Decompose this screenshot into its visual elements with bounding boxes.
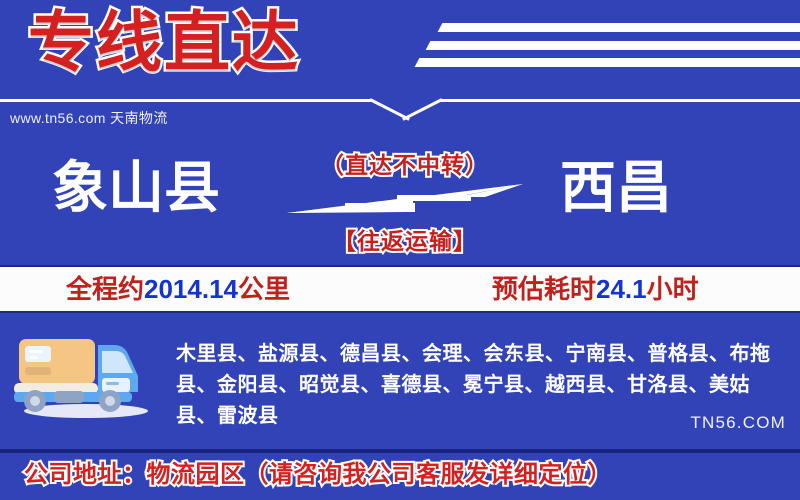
chevron-down-icon [368, 96, 444, 122]
distance-stat: 全程约2014.14公里 [66, 272, 290, 306]
website-label: www.tn56.com 天南物流 [10, 108, 168, 128]
headline-title: 专线直达 [28, 4, 300, 80]
stats-band: 全程约2014.14公里 预估耗时24.1小时 [0, 265, 800, 313]
distance-value: 2014.14 [144, 274, 238, 304]
coverage-section: 木里县、盐源县、德昌县、会理、会东县、宁南县、普格县、布拖县、金阳县、昭觉县、喜… [0, 313, 800, 448]
decorative-stripe-3 [415, 58, 800, 67]
origin-city: 象山县 [52, 156, 220, 220]
badge-roundtrip: 【往返运输】 [280, 222, 530, 256]
double-headed-arrow-icon [285, 182, 525, 220]
watermark-label: TN56.COM [690, 413, 786, 433]
logistics-route-poster: 专线直达 www.tn56.com 天南物流 象山县 西昌 （直达不中转） [0, 0, 800, 500]
poster-header: 专线直达 www.tn56.com 天南物流 [0, 0, 800, 140]
distance-unit: 公里 [238, 274, 290, 304]
delivery-truck-icon [10, 331, 160, 419]
poster-footer: 公司地址：物流园区（请咨询我公司客服发详细定位） [0, 453, 800, 500]
route-section: 象山县 西昌 （直达不中转） 【往返运输】 [0, 140, 800, 265]
company-address-text: 公司地址：物流园区（请咨询我公司客服发详细定位） [24, 458, 612, 492]
route-middle: （直达不中转） 【往返运输】 [280, 140, 530, 265]
duration-unit: 小时 [647, 274, 699, 304]
duration-stat: 预估耗时24.1小时 [492, 272, 699, 306]
duration-value: 24.1 [596, 274, 647, 304]
header-divider-right [440, 99, 800, 102]
duration-prefix: 预估耗时 [492, 274, 596, 304]
badge-direct: （直达不中转） [280, 146, 530, 180]
header-divider-left [0, 99, 372, 102]
decorative-stripe-2 [426, 41, 800, 50]
decorative-stripe-1 [438, 23, 800, 32]
distance-prefix: 全程约 [66, 274, 144, 304]
stats-divider-top [0, 265, 800, 267]
destination-city: 西昌 [560, 156, 672, 220]
